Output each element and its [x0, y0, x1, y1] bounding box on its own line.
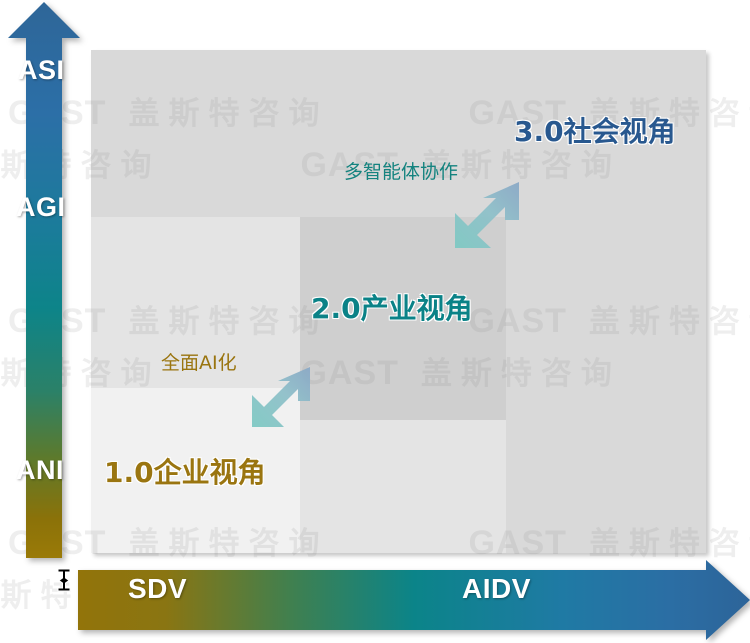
transition-1-label: 全面AI化	[161, 348, 237, 375]
stage-3-title: 3.0社会视角	[514, 110, 676, 150]
transition-2-label: 多智能体协作	[344, 157, 458, 184]
axis-label-sdv: SDV	[128, 573, 187, 605]
axis-label-aidv: AIDV	[462, 573, 531, 605]
diagram-canvas: GAST盖斯特咨询GAST盖斯特咨询 GAST盖斯特咨询GAST盖斯特咨询 GA…	[0, 0, 750, 643]
transition-arrow-1-icon	[248, 362, 318, 430]
axis-label-ani: ANI	[16, 455, 64, 486]
axis-label-agi: AGI	[16, 192, 66, 223]
stage-1-title: 1.0企业视角	[104, 451, 266, 491]
axis-label-asi: ASI	[18, 55, 65, 86]
stage-2-title: 2.0产业视角	[311, 287, 473, 327]
text-ibeam-cursor-icon	[56, 568, 72, 592]
transition-arrow-2-icon	[455, 178, 531, 252]
